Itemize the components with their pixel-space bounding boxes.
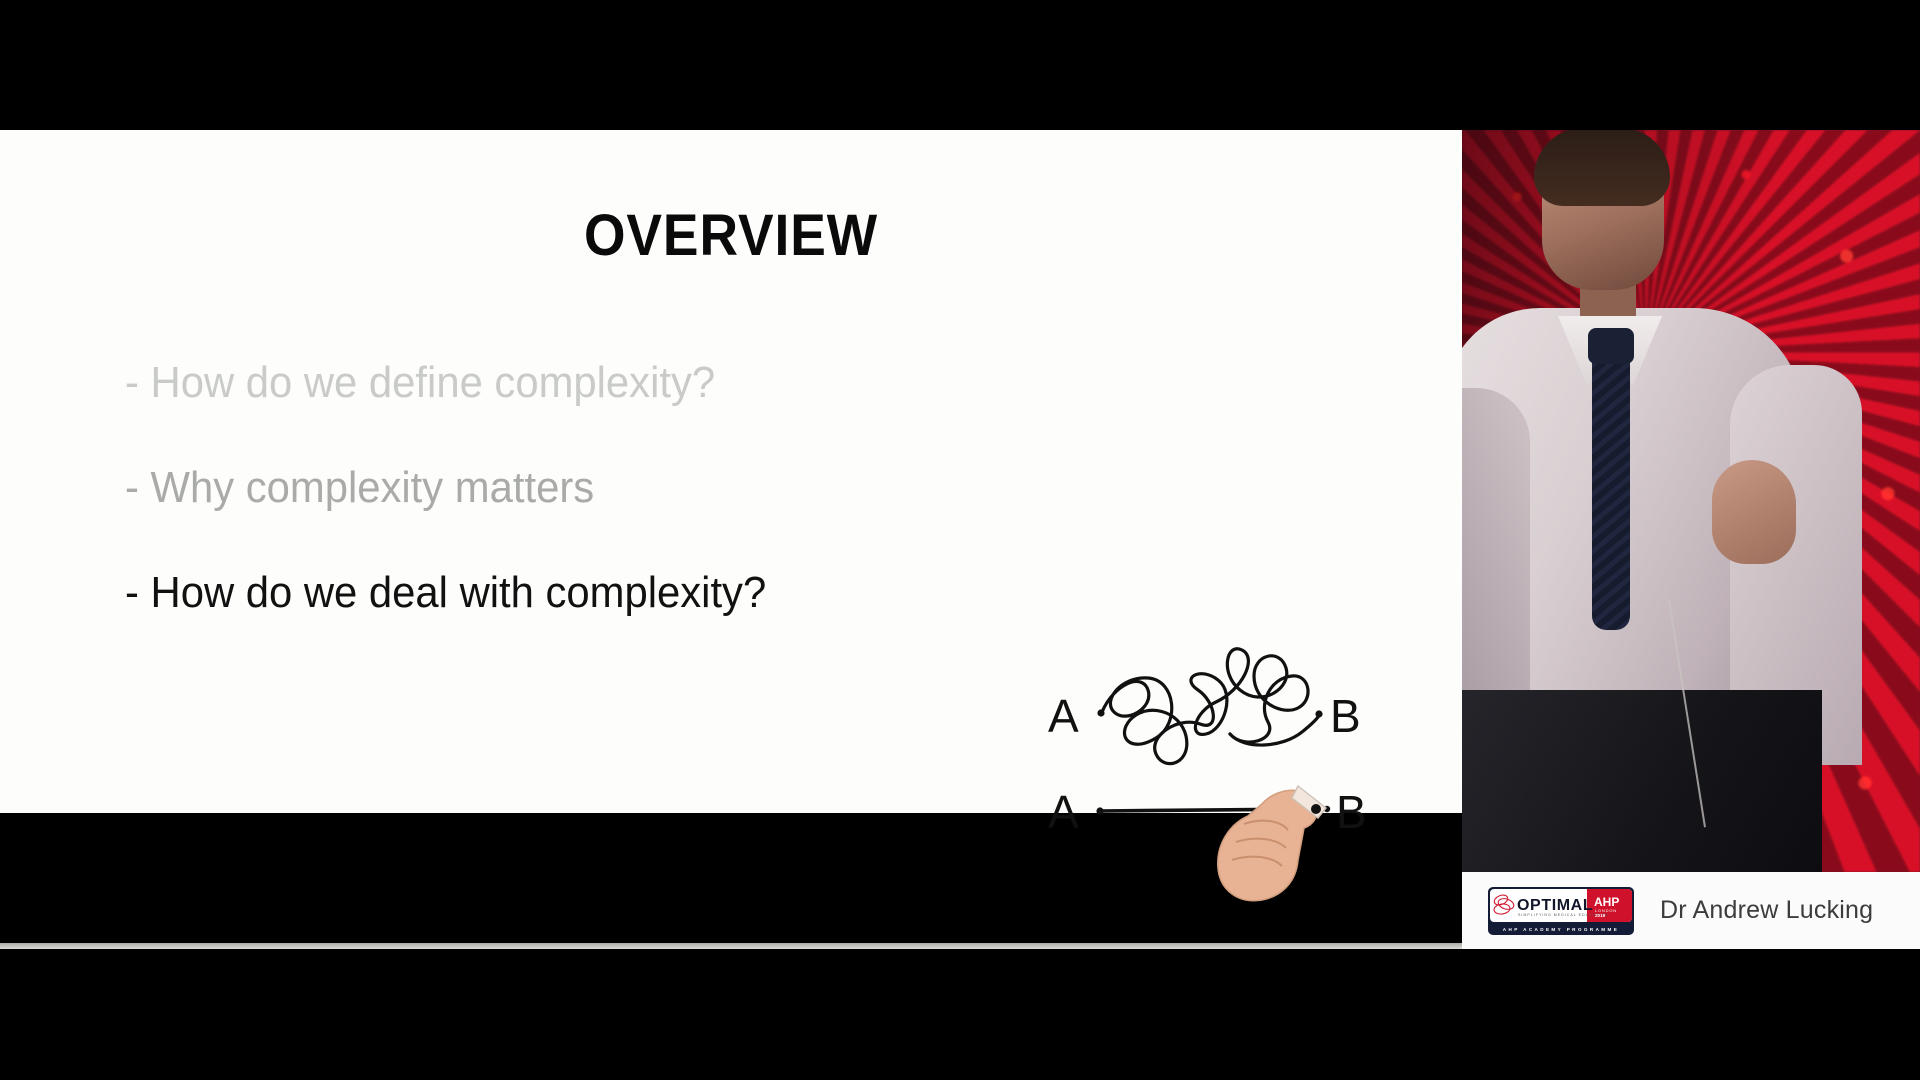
complexity-path-doodle-icon: A B A B	[1030, 628, 1380, 928]
bullet-list: - How do we define complexity? - Why com…	[125, 360, 1075, 617]
list-item: - How do we deal with complexity?	[125, 570, 1028, 616]
speaker-hand	[1712, 460, 1796, 564]
optimal-ahp-logo-small: OPTIMAL SIMPLIFYING MEDICAL EDUCATION AH…	[1488, 887, 1634, 935]
speaker-tie-knot	[1588, 328, 1634, 364]
namebar-logo-year: 2019	[1595, 913, 1606, 918]
speaker-name-bar: OPTIMAL SIMPLIFYING MEDICAL EDUCATION AH…	[1462, 872, 1920, 949]
page-title: OVERVIEW	[58, 202, 1403, 269]
namebar-logo-badge: AHP	[1594, 895, 1619, 909]
speaker-hair	[1534, 130, 1670, 206]
list-item: - How do we define complexity?	[125, 360, 1028, 406]
doodle-label-b-top: B	[1330, 690, 1361, 742]
doodle-label-a-top: A	[1048, 690, 1079, 742]
doodle-label-b-bottom: B	[1336, 786, 1367, 838]
speaker-name: Dr Andrew Lucking	[1660, 896, 1873, 925]
letterbox-bottom	[0, 949, 1920, 1080]
doodle-label-a-bottom: A	[1048, 786, 1079, 838]
speaker-trousers	[1462, 690, 1822, 872]
letterbox-top	[0, 0, 1920, 130]
presentation-slide: OVERVIEW - How do we define complexity? …	[0, 130, 1462, 813]
doodle-start-dot	[1097, 709, 1104, 716]
list-item: - Why complexity matters	[125, 465, 1028, 511]
namebar-logo-strapline: AHP ACADEMY PROGRAMME	[1503, 927, 1619, 932]
hand-with-marker-icon	[1218, 786, 1326, 901]
speaker-tie	[1592, 340, 1630, 630]
screen: OVERVIEW - How do we define complexity? …	[0, 0, 1920, 1080]
speaker-video-feed[interactable]	[1462, 130, 1920, 872]
namebar-logo-brand: OPTIMAL	[1517, 897, 1593, 914]
